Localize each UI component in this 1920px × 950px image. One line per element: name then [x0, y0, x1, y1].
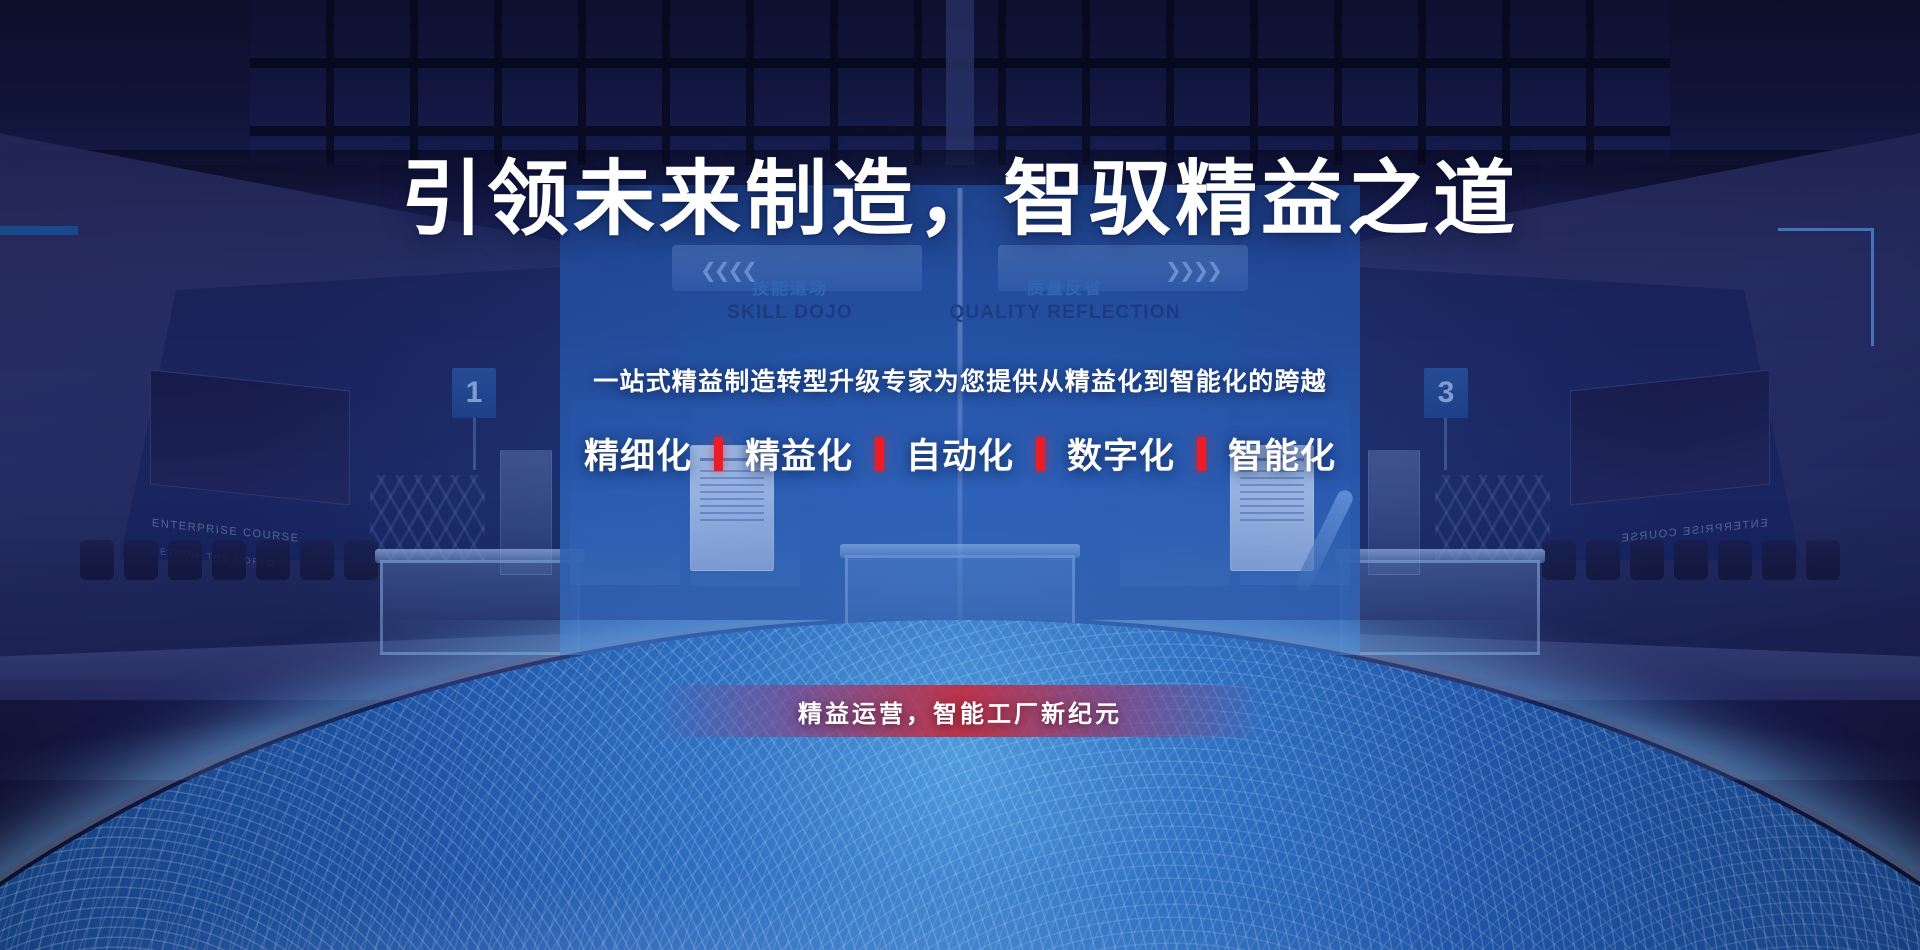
hero-banner: ENTERPRISE COURSE RETHINK THE WORLD 创新 责… — [0, 0, 1920, 950]
earth-from-space — [0, 620, 1920, 950]
keyword-separator — [1197, 437, 1206, 471]
keyword-separator — [714, 437, 723, 471]
tagline-text: 精益运营，智能工厂新纪元 — [798, 694, 1122, 729]
keyword-list: 精细化 精益化 自动化 数字化 智能化 — [0, 428, 1920, 479]
keyword-item: 精细化 — [562, 428, 714, 479]
page-title: 引领未来制造，智驭精益之道 — [0, 132, 1920, 251]
earth-sphere — [0, 620, 1920, 950]
keyword-item: 精益化 — [723, 428, 875, 479]
keyword-separator — [875, 437, 884, 471]
page-subtitle: 一站式精益制造转型升级专家为您提供从精益化到智能化的跨越 — [0, 362, 1920, 398]
keyword-item: 数字化 — [1045, 428, 1197, 479]
keyword-item: 自动化 — [884, 428, 1036, 479]
tagline-ribbon: 精益运营，智能工厂新纪元 — [658, 685, 1262, 737]
keyword-separator — [1036, 437, 1045, 471]
keyword-item: 智能化 — [1206, 428, 1358, 479]
earth-surface-detail — [0, 620, 1920, 950]
